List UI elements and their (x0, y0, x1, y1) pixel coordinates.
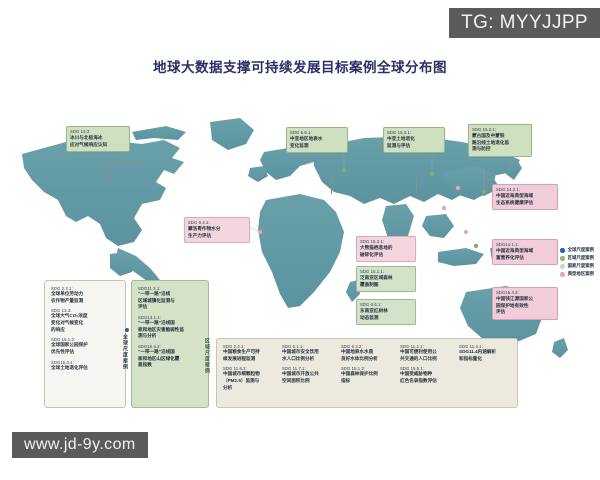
infographic-canvas: 地球大数据支撑可持续发展目标案例全球分布图 (0, 0, 600, 480)
panel-item[interactable]: SDG 15.1.2: 全球国家公园保护 优先性评估 (51, 337, 120, 355)
map-label-sdg-6-6-1-central-asia[interactable]: SDG 6.6.1: 中亚地区地表水 变化监测 (286, 127, 348, 153)
map-label-sdg-14-2-1-china-sea[interactable]: SDG 14.2.1: 中国近海典型海域 生态系统健康评估 (492, 184, 558, 210)
map-label-sdg-15-3-1-central-asia[interactable]: SDG 15.3.1: 中亚土地退化 监测与评估 (383, 127, 445, 153)
label-text: 大熊猫栖息地的 破碎化评估 (360, 245, 412, 258)
panel-regional-tag: 区域尺度案例 (204, 338, 211, 374)
panel-item[interactable]: SDG 13.3: 全球大气CO₂浓度 变化对气候变化 的响应 (51, 308, 120, 333)
legend-row[interactable]: 典型地区案例 (560, 272, 594, 277)
item-text: “一带一路”沿线国 家和地区山区绿化覆 盖指数 (138, 349, 203, 369)
legend-label: 典型地区案例 (568, 272, 594, 277)
item-text: 中国城市开放公共 空间面积比例 (282, 371, 335, 384)
legend-label: 区域尺度案例 (568, 256, 594, 261)
panel-national-scale[interactable]: SDG 2.4.1: 中国粮食生产可持 续发展进程监测 SDG 11.6.2: … (216, 338, 518, 408)
watermark-bottom: www.jd-9y.com (12, 432, 148, 458)
page-title: 地球大数据支撑可持续发展目标案例全球分布图 (0, 56, 600, 76)
item-text: 中国森林保护比例 指标 (341, 371, 394, 384)
map-label-sdg-13-3-arctic[interactable]: SDG 13.3: 冰川与北极海冰 应对气候响应认知 (66, 126, 130, 152)
panel-item[interactable]: SDG 2.4.1: 中国粮食生产可持 续发展进程监测 (223, 344, 276, 362)
item-text: 中国城市细颗粒物 （PM2.5）监测与 分析 (223, 371, 276, 391)
item-text: “一带一路”沿线国 家和地区灾害脆弱性监 测与分析 (138, 320, 203, 340)
panel-item[interactable]: SDG 11.4.1: SDG11.4内涵解析 和指标量化 (459, 344, 512, 362)
item-text: 中国粮食生产可持 续发展进程监测 (223, 349, 276, 362)
legend-swatch-global (560, 248, 565, 253)
panel-item[interactable]: SDG 6.3.2: 中国地表水水质 良好水体比例分析 (341, 344, 394, 362)
legend-row[interactable]: 国家尺度案例 (560, 264, 594, 269)
panel-item[interactable]: SDG11.3.1: “一带一路”沿线 区域城镇化监测与 评估 (138, 286, 203, 311)
legend-row[interactable]: 区域尺度案例 (560, 256, 594, 261)
map-label-sdg-15-1-1-pan-south-asia[interactable]: SDG 15.1.1: 泛南亚区域森林 覆盖制图 (356, 266, 416, 292)
map-label-sdg-6-4-1-morocco[interactable]: SDG 6.4.1: 摩洛哥作物水分 生产力评估 (184, 217, 250, 243)
label-text: 中国近海典型海域 生态系统健康评估 (496, 193, 554, 206)
leader-line (109, 160, 110, 182)
leader-line (487, 172, 488, 186)
panel-item[interactable]: SDG15.3.1: 全球土地退化评估 (51, 360, 120, 372)
panel-item[interactable]: SDG15.4.2: “一带一路”沿线国 家和地区山区绿化覆 盖指数 (138, 344, 203, 369)
map-label-sdg-14-1-1-china-sea[interactable]: SDG14.1.1: 中国近海典型海域 富营养化评估 (492, 239, 558, 265)
label-text: 中亚地区地表水 变化监测 (290, 136, 344, 149)
national-column: SDG 6.3.2: 中国地表水水质 良好水体比例分析 SDG 15.1.2: … (341, 344, 394, 391)
panel-item[interactable]: SDG 11.7.1: 中国城市开放公共 空间面积比例 (282, 366, 335, 384)
panel-item[interactable]: SDG 15.1.2: 中国森林保护比例 指标 (341, 366, 394, 384)
item-text: 全球大气CO₂浓度 变化对气候变化 的响应 (51, 313, 120, 333)
item-text: 中国地表水水质 良好水体比例分析 (341, 349, 394, 362)
panel-global-tag: 全球尺度案例 (122, 334, 129, 370)
label-text: 摩洛哥作物水分 生产力评估 (188, 226, 246, 239)
leader-line (331, 172, 332, 194)
label-text: 中国近海典型海域 富营养化评估 (496, 248, 554, 261)
leader-line (109, 160, 141, 161)
item-text: SDG11.4内涵解析 和指标量化 (459, 349, 512, 362)
panel-item[interactable]: SDG 6.1.1: 中国城市安全饮用 水人口比例分析 (282, 344, 335, 362)
item-text: 全球土地退化评估 (51, 365, 120, 372)
item-text: “一带一路”沿线 区域城镇化监测与 评估 (138, 291, 203, 311)
national-columns: SDG 2.4.1: 中国粮食生产可持 续发展进程监测 SDG 11.6.2: … (223, 344, 512, 391)
item-text: 中国受威胁物种 红色名录指数评估 (400, 371, 453, 384)
national-column: SDG 11.2.1: 中国可便利使用公 共交通的人口比例 SDG 15.5.1… (400, 344, 453, 391)
legend-swatch-regional (560, 256, 565, 261)
legend-label: 国家尺度案例 (568, 264, 594, 269)
item-text: 中国城市安全饮用 水人口比例分析 (282, 349, 335, 362)
watermark-top: TG: MYYJJPP (449, 8, 600, 38)
national-column: SDG 11.4.1: SDG11.4内涵解析 和指标量化 (459, 344, 512, 391)
national-column: SDG 6.1.1: 中国城市安全饮用 水人口比例分析 SDG 11.7.1: … (282, 344, 335, 391)
label-text: 东南亚红树林 动态监测 (360, 308, 412, 321)
label-text: 蒙古国及中蒙铁 路沿线土地退化监 测与防控 (472, 133, 528, 153)
panel-item[interactable]: SDG 15.5.1: 中国受威胁物种 红色名录指数评估 (400, 366, 453, 384)
panel-item[interactable]: SDG 11.6.2: 中国城市细颗粒物 （PM2.5）监测与 分析 (223, 366, 276, 391)
label-text: 中亚土地退化 监测与评估 (387, 136, 441, 149)
item-text: 全球国家公园保护 优先性评估 (51, 342, 120, 355)
map-legend: 全球尺度案例 区域尺度案例 国家尺度案例 典型地区案例 (560, 248, 594, 280)
legend-row[interactable]: 全球尺度案例 (560, 248, 594, 253)
label-text: 泛南亚区域森林 覆盖制图 (360, 275, 412, 288)
legend-swatch-national (560, 264, 565, 269)
panel-item[interactable]: SDG13.1.1: “一带一路”沿线国 家和地区灾害脆弱性监 测与分析 (138, 315, 203, 340)
map-label-sdg-6-6-1-mangrove[interactable]: SDG 6.6.1: 东南亚红树林 动态监测 (356, 299, 416, 325)
legend-swatch-typical (560, 272, 565, 277)
legend-label: 全球尺度案例 (568, 248, 594, 253)
panel-item[interactable]: SDG 11.2.1: 中国可便利使用公 共交通的人口比例 (400, 344, 453, 362)
panel-regional-scale[interactable]: SDG11.3.1: “一带一路”沿线 区域城镇化监测与 评估 SDG13.1.… (131, 280, 209, 408)
item-text: 中国可便利使用公 共交通的人口比例 (400, 349, 453, 362)
leader-line (416, 172, 417, 194)
panel-item[interactable]: SDG 2.3.1: 全球单位劳动力 农作物产量监测 (51, 286, 120, 304)
national-column: SDG 2.4.1: 中国粮食生产可持 续发展进程监测 SDG 11.6.2: … (223, 344, 276, 391)
map-label-sdg-15-4-2-qianjiangyuan[interactable]: SDG15.4.2: 中国钱江源国家公 园保护地有效性 评估 (492, 287, 558, 320)
map-label-sdg-15-3-1-panda[interactable]: SDG 15.3.1: 大熊猫栖息地的 破碎化评估 (356, 236, 416, 262)
item-text: 全球单位劳动力 农作物产量监测 (51, 291, 120, 304)
label-text: 中国钱江源国家公 园保护地有效性 评估 (496, 296, 554, 316)
panel-global-scale[interactable]: SDG 2.3.1: 全球单位劳动力 农作物产量监测 SDG 13.3: 全球大… (44, 280, 126, 408)
label-text: 冰川与北极海冰 应对气候响应认知 (70, 135, 126, 148)
global-scale-dot (125, 328, 129, 332)
map-label-sdg-15-3-1-mongolia[interactable]: SDG 15.3.1: 蒙古国及中蒙铁 路沿线土地退化监 测与防控 (468, 124, 532, 157)
